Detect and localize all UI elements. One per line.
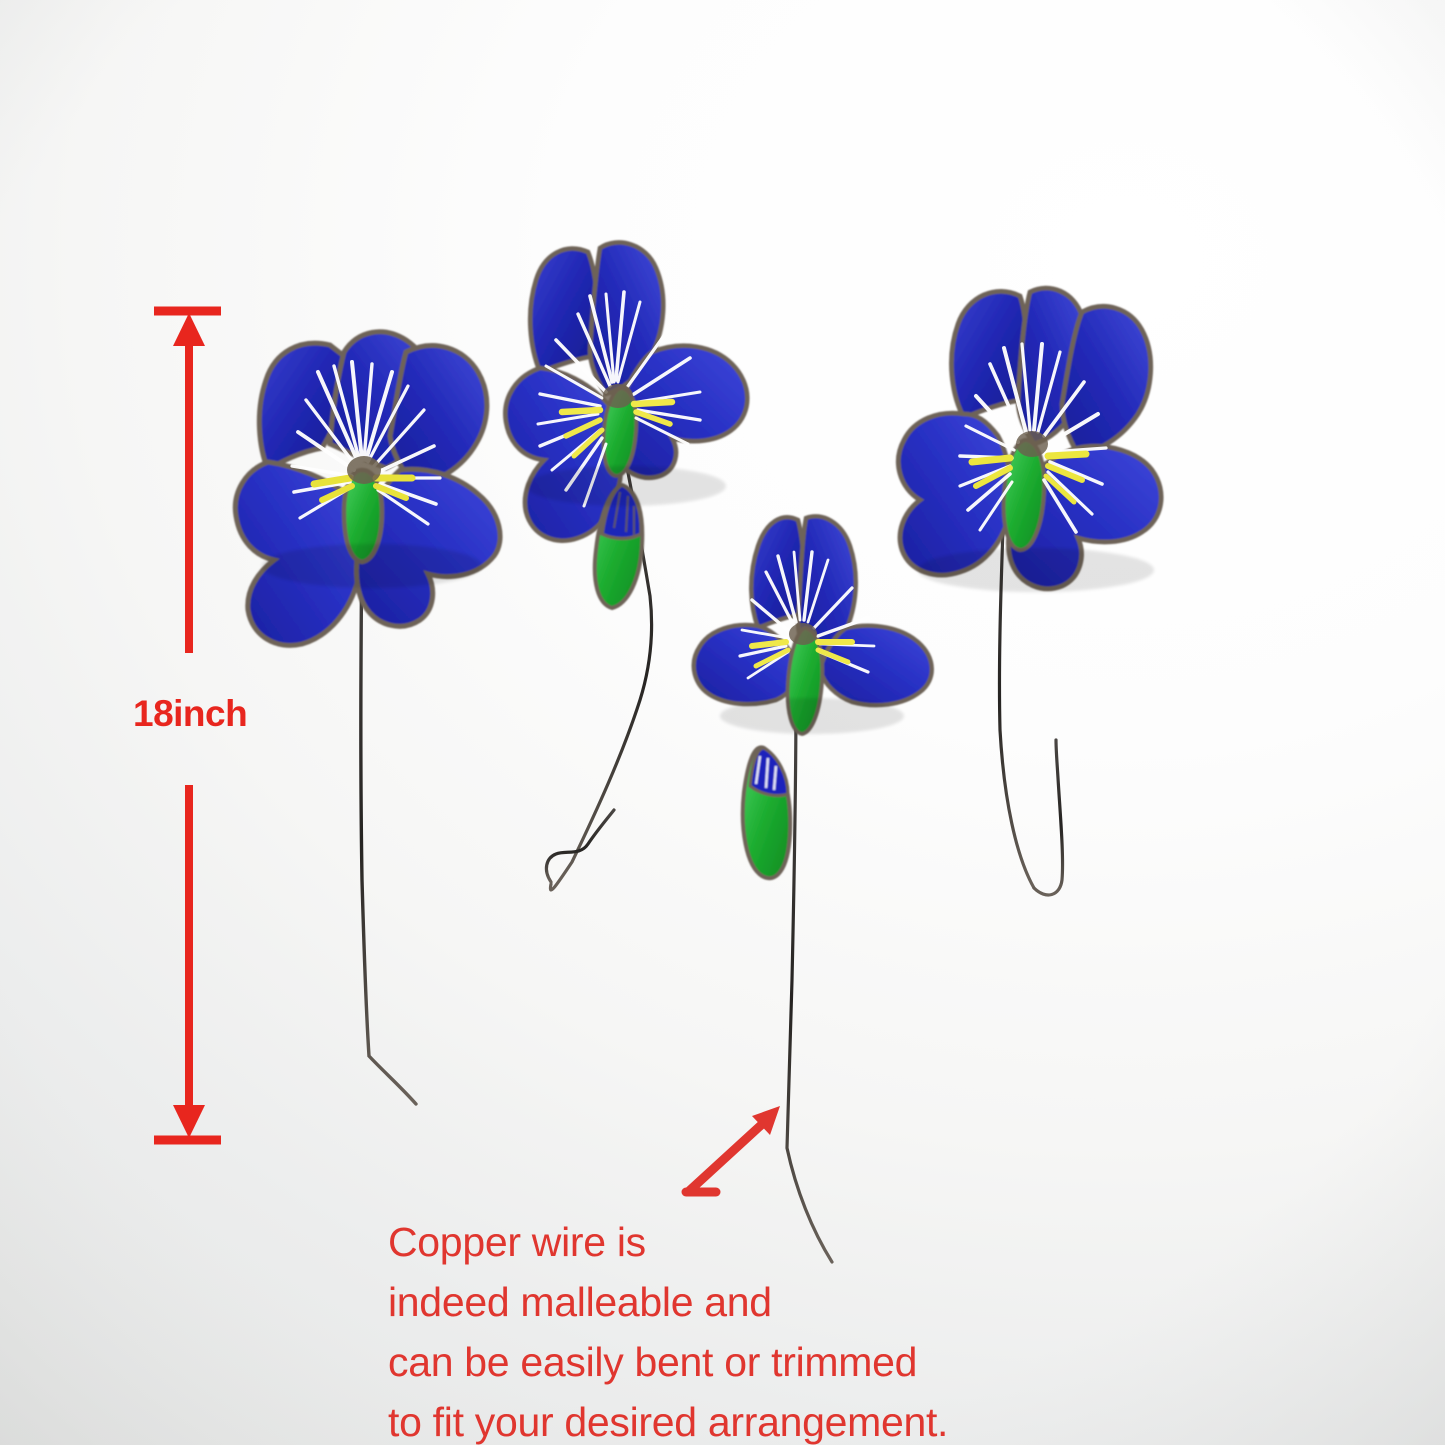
stained-glass-iris-photo xyxy=(0,0,1445,1445)
product-photo-with-annotations: 18inch Copper wire is indeed malleable a… xyxy=(0,0,1445,1445)
